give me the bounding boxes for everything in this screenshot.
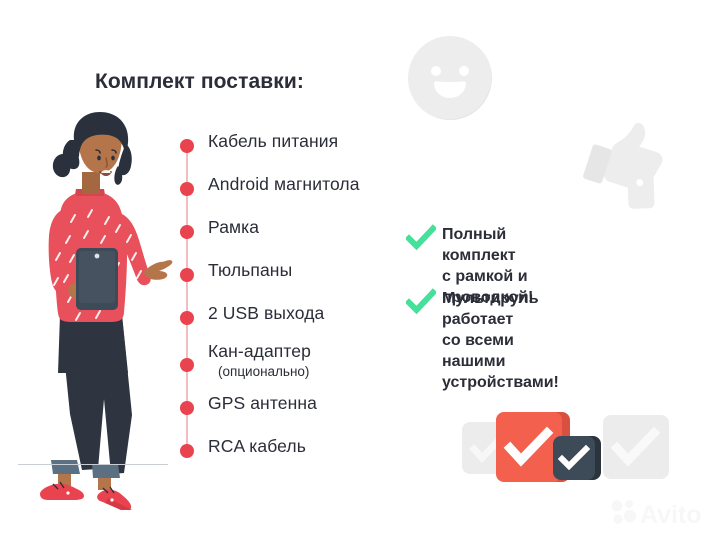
- check-cards-decoration: [462, 408, 647, 490]
- bullet-dot-icon: [180, 311, 194, 325]
- check-card-gray-right: [603, 415, 669, 479]
- bullet-dot-icon: [180, 225, 194, 239]
- list-item-label: Тюльпаны: [208, 260, 292, 281]
- bullet-dot-icon: [180, 444, 194, 458]
- check-card-navy: [553, 436, 595, 480]
- check-mark-icon: [406, 287, 436, 317]
- benefit-text: Мультируль работает со всеми нашими устр…: [442, 288, 559, 393]
- check-mark-icon: [406, 223, 436, 253]
- list-item-label: Кабель питания: [208, 131, 338, 152]
- list-item-label: Кан-адаптер: [208, 341, 311, 362]
- avito-watermark: Avito: [608, 496, 712, 530]
- bullet-dot-icon: [180, 182, 194, 196]
- bullet-dot-icon: [180, 139, 194, 153]
- list-item-label: 2 USB выхода: [208, 303, 324, 324]
- kit-contents-list: Кабель питания Android магнитола Рамка Т…: [170, 130, 430, 460]
- list-item-label: GPS антенна: [208, 393, 317, 414]
- woman-pointing-illustration: [8, 110, 183, 510]
- list-item-label: RCA кабель: [208, 436, 306, 457]
- smiley-face-icon: [405, 33, 495, 123]
- bullet-dot-icon: [180, 358, 194, 372]
- list-item-label: Android магнитола: [208, 174, 360, 195]
- avito-wordmark: Avito: [640, 501, 702, 529]
- list-item-sublabel: (опционально): [218, 364, 309, 379]
- list-item-label: Рамка: [208, 217, 259, 238]
- page-title: Комплект поставки:: [95, 70, 304, 94]
- bullet-dot-icon: [180, 401, 194, 415]
- thumbs-up-icon: [578, 112, 683, 217]
- ground-line: [18, 464, 168, 465]
- promo-image-canvas: Комплект поставки: Кабель питания Androi…: [0, 0, 720, 540]
- bullet-dot-icon: [180, 268, 194, 282]
